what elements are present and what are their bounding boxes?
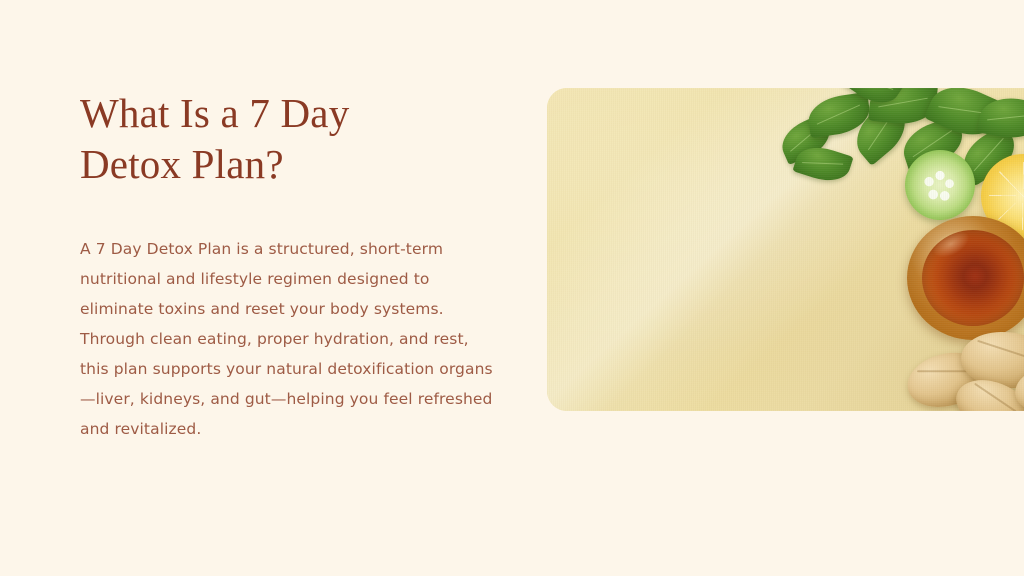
detox-ingredients-photo [547, 88, 1024, 411]
page-title: What Is a 7 Day Detox Plan? [80, 88, 505, 190]
cup-glass [907, 216, 1024, 340]
ginger-root-icon [903, 324, 1024, 411]
body-paragraph: A 7 Day Detox Plan is a structured, shor… [80, 234, 500, 444]
slide-canvas: What Is a 7 Day Detox Plan? A 7 Day Deto… [0, 0, 1024, 576]
cucumber-seeds [923, 168, 957, 202]
text-column: What Is a 7 Day Detox Plan? A 7 Day Deto… [80, 88, 505, 444]
tea-glass-icon [907, 216, 1024, 340]
cucumber-slice-icon [905, 150, 975, 220]
